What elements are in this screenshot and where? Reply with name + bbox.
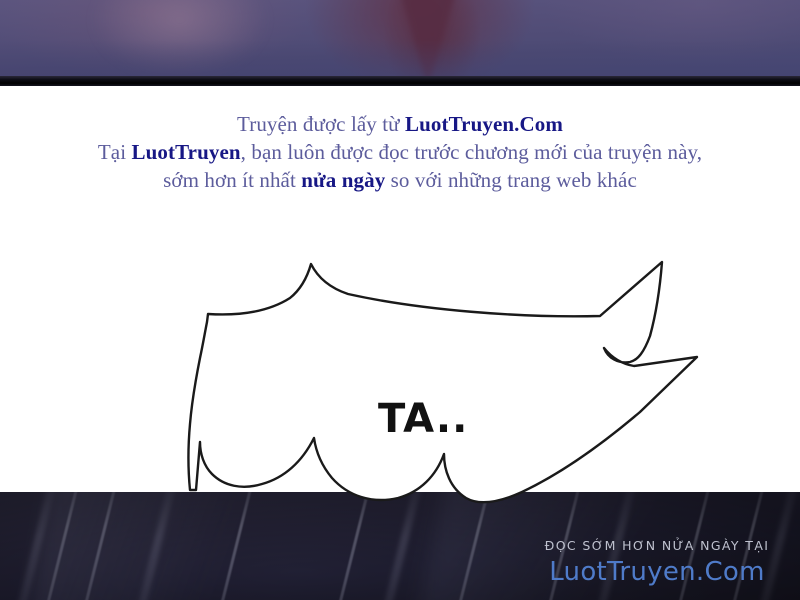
watermark-line-1-brand: LuotTruyen.Com <box>405 112 563 136</box>
top-panel-haze <box>0 40 800 80</box>
speech-bubble-text: TA.. <box>378 398 468 440</box>
watermark-line-2-suffix: , bạn luôn được đọc trước chương mới của… <box>241 140 702 164</box>
watermark-line-1: Truyện được lấy từ LuotTruyen.Com <box>0 110 800 138</box>
speech-bubble-container <box>0 240 800 540</box>
top-panel-bottom-edge <box>0 76 800 86</box>
watermark-line-3-prefix: sớm hơn ít nhất <box>163 168 301 192</box>
site-watermark-text: Truyện được lấy từ LuotTruyen.Com Tại Lu… <box>0 110 800 194</box>
brand-overlay: ĐỌC SỚM HƠN NỬA NGÀY TẠI LuotTruyen.Com <box>532 538 782 587</box>
top-artwork-panel <box>0 0 800 80</box>
watermark-line-3-strong: nửa ngày <box>301 168 385 192</box>
brand-tagline: ĐỌC SỚM HƠN NỬA NGÀY TẠI <box>532 538 782 553</box>
speech-bubble-outline <box>189 262 698 502</box>
speech-bubble-shape <box>0 240 800 540</box>
watermark-line-2: Tại LuotTruyen, bạn luôn được đọc trước … <box>0 138 800 166</box>
watermark-line-1-prefix: Truyện được lấy từ <box>237 112 405 136</box>
watermark-line-2-brand: LuotTruyen <box>132 140 241 164</box>
watermark-line-3: sớm hơn ít nhất nửa ngày so với những tr… <box>0 166 800 194</box>
watermark-line-2-prefix: Tại <box>98 140 132 164</box>
brand-name[interactable]: LuotTruyen.Com <box>532 557 782 587</box>
watermark-line-3-suffix: so với những trang web khác <box>385 168 637 192</box>
comic-page: Truyện được lấy từ LuotTruyen.Com Tại Lu… <box>0 0 800 600</box>
